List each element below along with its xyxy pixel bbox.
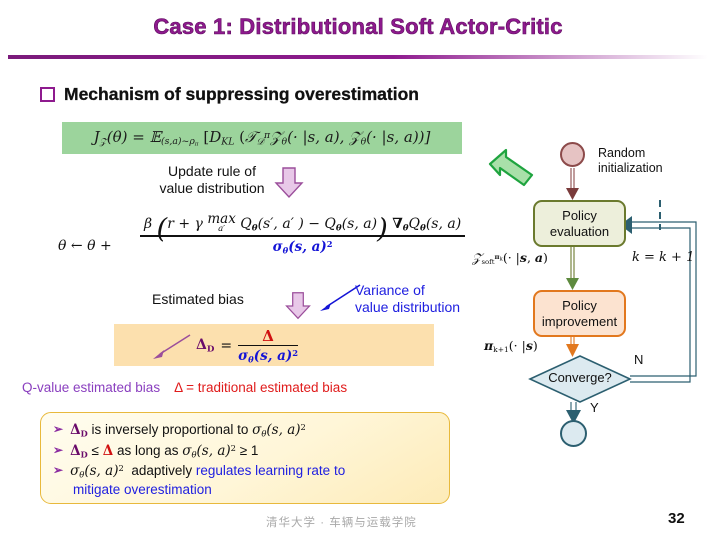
bullet-3-blue-a: regulates learning rate to — [196, 463, 345, 478]
delta-d-lhs: ΔD — [196, 337, 214, 354]
bullet-3-blue-b: mitigate overestimation — [73, 482, 439, 497]
flow-node-decision-label: Converge? — [530, 370, 630, 385]
section-heading: Mechanism of suppressing overestimation — [40, 84, 419, 105]
section-heading-label: Mechanism of suppressing overestimation — [64, 84, 419, 105]
update-rule-line2: value distribution — [142, 180, 282, 197]
delta-denominator: σθ(s, a)2 — [238, 348, 298, 364]
estimated-bias-caption: Estimated bias — [152, 291, 244, 307]
chevron-right-icon: ➢ — [53, 420, 63, 439]
bullet-text-1: ΔD is inversely proportional to σθ(s, a)… — [70, 420, 306, 441]
footer-organization: 清华大学 · 车辆与运载学院 — [266, 514, 417, 530]
delta-numerator: Δ — [262, 327, 274, 345]
variance-line2: value distribution — [355, 299, 485, 316]
chevron-right-icon: ➢ — [53, 461, 63, 480]
theta-fraction-bar — [140, 235, 465, 236]
delta-d-equals: = — [220, 338, 232, 354]
objective-equation-text: J𝒵(θ) = 𝔼(s,a)~ρπ [DKL (𝒯𝒟π𝒵θ(· |s, a), … — [94, 128, 431, 148]
delta-fraction-bar — [238, 345, 298, 346]
list-item: ➢ ΔD ≤ Δ as long as σθ(s, a)2 ≥ 1 — [53, 441, 439, 462]
list-item: ➢ ΔD is inversely proportional to σθ(s, … — [53, 420, 439, 441]
flow-edge-label-zsoft: 𝒵softπk(· |s, a) — [472, 250, 548, 266]
down-arrow-icon-2 — [283, 290, 313, 322]
algorithm-flowchart: Random initialization Policy evaluation … — [480, 138, 716, 468]
legend-row: Q-value estimated bias Δ = traditional e… — [22, 380, 502, 395]
update-rule-caption: Update rule of value distribution — [142, 163, 282, 196]
conclusions-box: ➢ ΔD is inversely proportional to σθ(s, … — [40, 412, 450, 504]
flow-node-policy-improvement-label: Policy improvement — [542, 298, 617, 329]
flow-start-node — [560, 142, 585, 167]
theta-lhs: θ ← θ + — [58, 238, 112, 254]
down-arrow-icon — [272, 166, 306, 200]
theta-denominator: σθ(s, a)2 — [140, 238, 465, 255]
theta-numerator: β (r + γ maxa′ Qθ(s′, a′ ) − Qθ(s, a)) ∇… — [140, 212, 465, 234]
chevron-right-icon: ➢ — [53, 441, 63, 460]
delta-d-equation: ΔD = Δ σθ(s, a)2 — [196, 327, 298, 365]
legend-traditional-bias: Δ = traditional estimated bias — [174, 380, 347, 395]
flow-node-policy-evaluation[interactable]: Policy evaluation — [533, 200, 626, 247]
bullet-text-2: ΔD ≤ Δ as long as σθ(s, a)2 ≥ 1 — [70, 441, 258, 462]
theta-fraction: β (r + γ maxa′ Qθ(s′, a′ ) − Qθ(s, a)) ∇… — [140, 212, 465, 255]
square-bullet-icon — [40, 87, 55, 102]
flow-edge-label-yes: Y — [590, 400, 599, 416]
delta-d-fraction: Δ σθ(s, a)2 — [238, 327, 298, 365]
slide-canvas: Case 1: Distributional Soft Actor-Critic… — [0, 0, 716, 536]
legend-qvalue-bias: Q-value estimated bias — [22, 380, 160, 395]
variance-caption: Variance of value distribution — [355, 282, 485, 315]
theta-update-equation: θ ← θ + β (r + γ maxa′ Qθ(s′, a′ ) − Qθ(… — [58, 212, 498, 274]
page-title: Case 1: Distributional Soft Actor-Critic — [0, 14, 716, 40]
variance-line1: Variance of — [355, 282, 485, 299]
flow-start-label-l2: initialization — [598, 161, 663, 176]
page-number: 32 — [668, 510, 685, 527]
flow-start-label: Random initialization — [598, 146, 663, 176]
flow-edge-label-no: N — [634, 352, 643, 368]
title-divider — [8, 55, 708, 59]
list-item: ➢ σθ(s, a)2 adaptively regulates learnin… — [53, 461, 439, 482]
flow-start-label-l1: Random — [598, 146, 663, 161]
flow-node-policy-improvement[interactable]: Policy improvement — [533, 290, 626, 337]
flow-edge-label-pi-next: πk+1(· |s) — [484, 338, 538, 354]
flow-node-policy-evaluation-label: Policy evaluation — [550, 208, 609, 239]
diagonal-pointer-arrow-icon — [150, 332, 194, 360]
flow-counter-label: k = k + 1 — [632, 250, 694, 266]
flow-end-node — [560, 420, 587, 447]
bullet-text-3: σθ(s, a)2 adaptively regulates learning … — [70, 461, 345, 482]
delta-d-equation-box: ΔD = Δ σθ(s, a)2 — [114, 324, 434, 366]
objective-equation-box: J𝒵(θ) = 𝔼(s,a)~ρπ [DKL (𝒯𝒟π𝒵θ(· |s, a), … — [62, 122, 462, 154]
update-rule-line1: Update rule of — [142, 163, 282, 180]
